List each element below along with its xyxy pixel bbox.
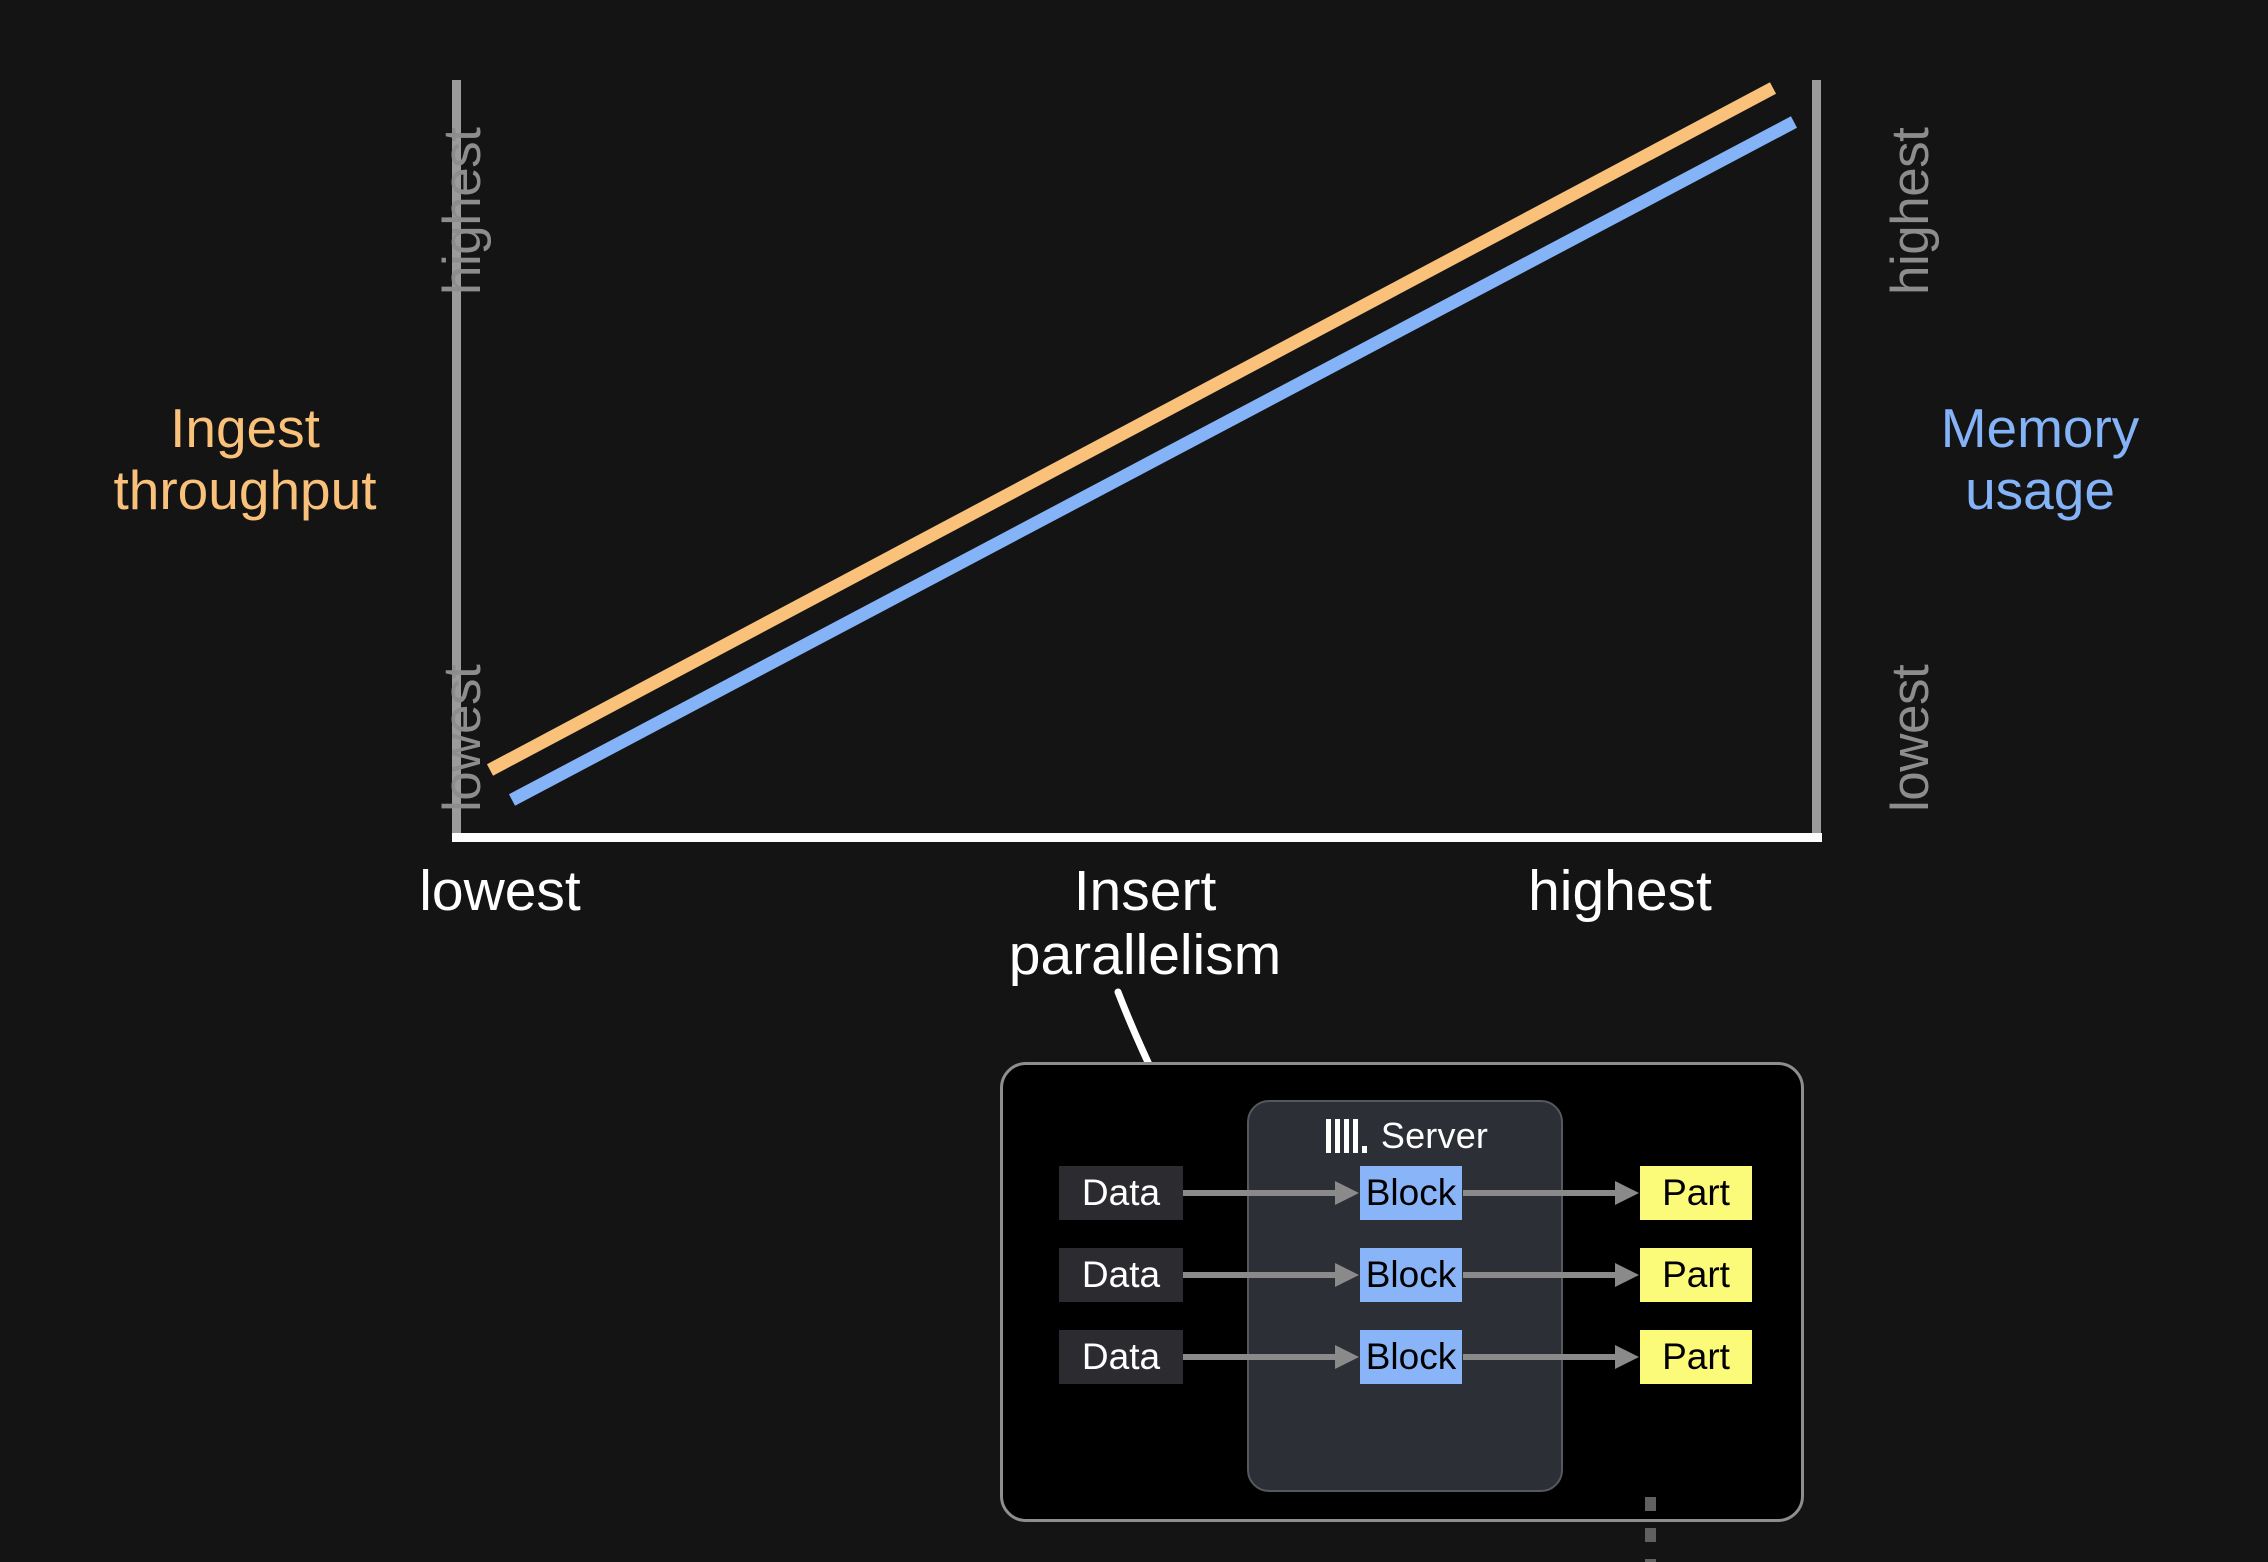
server-label: Server	[1381, 1115, 1488, 1157]
data-box-3[interactable]: Data	[1059, 1330, 1183, 1384]
x-axis	[452, 833, 1822, 842]
part-box-2[interactable]: Part	[1640, 1248, 1752, 1302]
block-box-2[interactable]: Block	[1360, 1248, 1462, 1302]
data-box-1[interactable]: Data	[1059, 1166, 1183, 1220]
part-box-3[interactable]: Part	[1640, 1330, 1752, 1384]
ingest-pipeline-diagram: Server	[1000, 1062, 1804, 1522]
block-box-3[interactable]: Block	[1360, 1330, 1462, 1384]
chart: highest lowest highest lowest Ingest thr…	[0, 0, 2268, 1000]
left-axis-tick-highest: highest	[432, 128, 493, 295]
x-axis-title: Insert parallelism	[960, 860, 1330, 988]
left-axis-tick-lowest: lowest	[432, 665, 493, 812]
series-line-memory-usage	[512, 122, 1794, 800]
data-box-2[interactable]: Data	[1059, 1248, 1183, 1302]
right-axis-tick-highest: highest	[1880, 128, 1941, 295]
slide-canvas: highest lowest highest lowest Ingest thr…	[0, 0, 2268, 1562]
server-header: Server	[1249, 1115, 1565, 1157]
right-y-axis	[1812, 80, 1821, 840]
block-box-1[interactable]: Block	[1360, 1166, 1462, 1220]
right-axis-title: Memory usage	[1845, 398, 2235, 521]
clickhouse-logo-icon	[1326, 1119, 1367, 1153]
right-axis-tick-lowest: lowest	[1880, 665, 1941, 812]
left-axis-title: Ingest throughput	[60, 398, 430, 521]
series-line-ingest-throughput	[490, 88, 1773, 770]
x-axis-tick-highest: highest	[1440, 860, 1800, 924]
part-box-1[interactable]: Part	[1640, 1166, 1752, 1220]
vertical-ellipsis-icon	[1645, 1497, 1656, 1562]
x-axis-tick-lowest: lowest	[340, 860, 660, 924]
